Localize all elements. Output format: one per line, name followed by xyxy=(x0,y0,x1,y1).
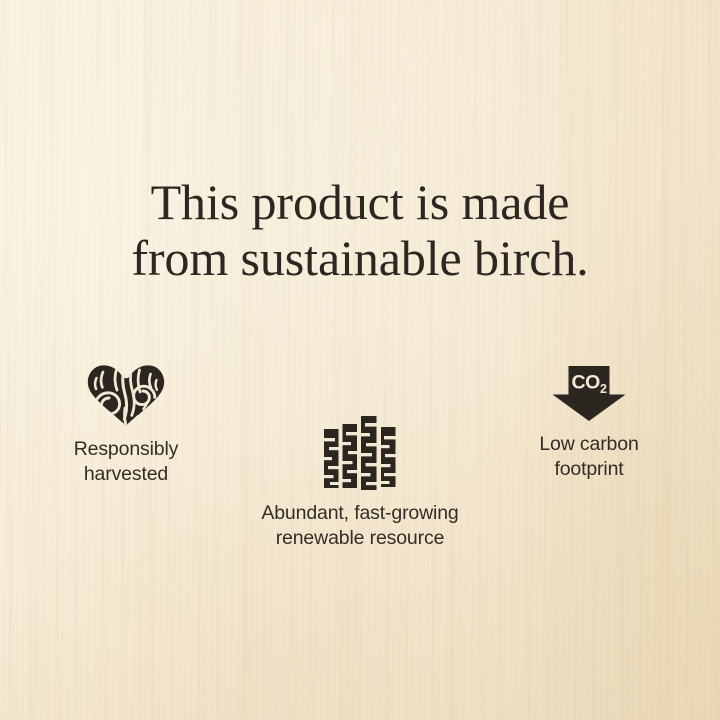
badge-renewable-resource: Abundant, fast-growing renewable resourc… xyxy=(245,416,475,552)
headline: This product is made from sustainable bi… xyxy=(0,174,720,286)
co2-icon-subscript: 2 xyxy=(600,382,607,396)
panel-content: This product is made from sustainable bi… xyxy=(0,0,720,720)
wood-grain-heart-icon xyxy=(87,364,165,426)
badge-responsibly-harvested: Responsibly harvested xyxy=(45,364,207,488)
badge-caption-responsibly-harvested: Responsibly harvested xyxy=(45,437,207,488)
badge-low-carbon-footprint: CO2 Low carbon footprint xyxy=(513,366,665,483)
co2-down-arrow-icon: CO2 xyxy=(552,366,626,421)
birch-trunks-icon xyxy=(324,416,396,490)
badge-caption-low-carbon-footprint: Low carbon footprint xyxy=(513,432,665,483)
product-info-panel: This product is made from sustainable bi… xyxy=(0,0,720,720)
badge-caption-renewable-resource: Abundant, fast-growing renewable resourc… xyxy=(245,501,475,552)
